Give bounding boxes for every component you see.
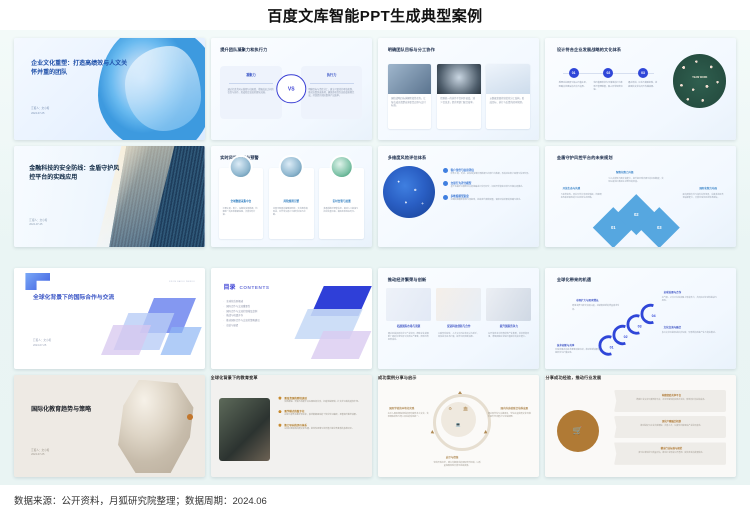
divider [229, 83, 273, 84]
diamond-center-text: 引入大模型与图计算能力，提升复杂欺诈团伙的识别精度，实现从被动拦截到主动预判的转… [608, 178, 665, 184]
slide-risk-assessment-system[interactable]: 多维度风险评估体系 客户身份与信用评估 结合工商、司法、征信等多维外部数据与内部… [378, 146, 539, 248]
world-map-image [436, 288, 481, 321]
slide-cover-fintech[interactable]: 金融科技的安全防线：金盾守护风控平台的实践应用 汇报人：文小希 2024-07-… [14, 146, 205, 248]
map-card-text: 通过区域贸易协定与产业协同，帮助企业获取更广阔的市场空间与优质生产要素，降低综合… [388, 333, 429, 343]
step-node-icon [600, 397, 608, 405]
education-item: 教育资源的跨境流动 优质课程、师资与科研平台在国际间共享，打破地域限制，扩大学习… [278, 396, 364, 404]
vs-left-text: 通过打造共同价值观与归属感，增强成员之间的信任与协作，形成稳定高效的团队氛围。 [228, 89, 275, 96]
diamond-right-text: 面向跨境支付与海外业务场景，完善多地区合规适配能力，支撑全球化风控体系建设。 [683, 194, 725, 200]
bullet-list: 客户身份与信用评估 结合工商、司法、征信等多维外部数据与内部行为数据，形成动态客… [443, 168, 532, 207]
education-item-text: 优质课程、师资与科研平台在国际间共享，打破地域限制，扩大学习者的选择半径。 [284, 401, 364, 404]
shopping-cart-icon: 🛒 [557, 410, 599, 452]
hands-pattern [673, 54, 726, 107]
slide-team-cohesion-vs[interactable]: 提升团队凝聚力和执行力 凝聚力 通过打造共同价值观与归属感，增强成员之间的信任与… [211, 38, 372, 140]
david-statue-image [109, 380, 197, 473]
cycle-node-label: 国内外高校联合培养成果 [501, 406, 529, 410]
slide-case-studies[interactable]: 成功案例分享与启示 ⚙ 🏛 💻 国际学校的本地化实践 在引入国际课程体系的同时融… [378, 375, 539, 477]
divider [310, 83, 354, 84]
education-list: 教育资源的跨境流动 优质课程、师资与科研平台在国际间共享，打破地域限制，扩大学习… [278, 396, 364, 437]
slide-title: 成功案例分享与启示 [378, 375, 417, 380]
step-label: 健全行业标准与规范 [623, 446, 720, 450]
map-card-list: 拓展国际市场与资源 通过区域贸易协定与产业协同，帮助企业获取更广阔的市场空间与优… [386, 288, 531, 362]
diamond-03: 03 [639, 207, 679, 247]
diamond-center-label: 智能化能力升级 [616, 170, 634, 174]
slide-presenter: 汇报人：文小希 2024-07-25 [29, 219, 47, 228]
timeline-number: 03 [638, 68, 648, 78]
map-card: 拓展国际市场与资源 通过区域贸易协定与产业协同，帮助企业获取更广阔的市场空间与优… [386, 288, 431, 362]
watermark-text: FROM BAIDU WENKU [169, 281, 195, 283]
cart-glyph: 🛒 [557, 410, 599, 452]
education-item-text: 从知识考核转向跨文化沟通、批判性思维与协作能力等综合素养的多维评价。 [284, 428, 364, 431]
map-card-text: 在开放竞争中培育优势产业集群，优化营商环境，增强国家在全球价值链中的议价能力。 [488, 333, 529, 339]
timeline-text: 通过培训、仪式与激励机制，持续强化文化认同与传播效果。 [628, 82, 658, 88]
vs-right-label: 执行力 [301, 72, 362, 77]
slide-platform-roadmap[interactable]: 金盾守护风控平台的未来规划 智能化能力升级 引入大模型与图计算能力，提升复杂欺诈… [545, 146, 736, 248]
polygon-decoration [101, 325, 151, 355]
vs-badge: VS [277, 74, 306, 103]
gear-icon: ⚙ [448, 406, 452, 411]
vs-badge-label: VS [278, 75, 305, 102]
deck-row-fintech-security: 金融科技的安全防线：金盾守护风控平台的实践应用 汇报人：文小希 2024-07-… [14, 146, 736, 248]
step-item: 健全行业标准与规范 参与标准制定与质量评估，推动行业形成公开透明、良性竞争的发展… [614, 442, 726, 464]
slide-presenter: 汇报人：文小希 2024-07-25 [31, 449, 49, 458]
slide-title: 推动经济繁荣与创新 [388, 277, 427, 282]
education-item: 能力导向的评价体系 从知识考核转向跨文化沟通、批判性思维与协作能力等综合素养的多… [278, 423, 364, 431]
deck-group-separator [14, 253, 736, 262]
presenter-line: 汇报人：文小希 [33, 339, 51, 344]
slide-team-goals-division[interactable]: 明确团队目标与分工协作 围绕战略目标拆解阶段性任务，让每位成员清楚自身职责边界与… [378, 38, 539, 140]
photo-card: 围绕战略目标拆解阶段性任务，让每位成员清楚自身职责边界与交付标准。 [388, 64, 432, 129]
slides-grid: 企业文化重塑：打造高绩效与人文关怀并重的团队 汇报人：文小希 2024-07-2… [0, 30, 750, 485]
arc-step-text: 在气候、公共卫生等议题上形成合力，共同应对全球性挑战与风险。 [662, 297, 719, 303]
source-note: 数据来源：公开资料，月狐研究院整理；数据周期：2024.06 [0, 493, 267, 507]
bullet-marker-icon [443, 168, 448, 173]
contents-title-cn: 目录 [223, 282, 235, 291]
education-item-label: 能力导向的评价体系 [284, 423, 364, 427]
bullet-text: 基于机器学习模型对交易链路进行实时评分，识别异常资金流转与可疑交易模式。 [451, 186, 525, 189]
step-connector [605, 454, 614, 455]
slide-title: 金盾守护风控平台的未来规划 [557, 155, 613, 160]
slide-title: 国际化教育趋势与策略 [31, 406, 111, 415]
teamwork-caption: TEAM WORK [673, 76, 726, 79]
deck-row-international-education: 国际化教育趋势与策略 汇报人：文小希 2024-07-25 全球化背景下的教育变… [14, 375, 736, 477]
cycle-arrow-icon [458, 391, 462, 394]
vs-right-text: 明确目标与责任分工，建立可量化的考核机制，推动决策快速落地，确保各项任务高质量按… [308, 89, 355, 99]
slide-share-experience[interactable]: 分享成功经验，推动行业发展 🛒 构建经验共享平台 搭建行业交流与案例库平台，沉淀… [545, 375, 736, 477]
map-card-label: 提升国家竞争力 [486, 324, 531, 328]
slide-title: 提升团队凝聚力和执行力 [220, 47, 267, 52]
slide-realtime-risk-monitoring[interactable]: 实时风险监测与预警 全域数据采集中台 汇聚交易、账户、设备等多源数据，构建统一的… [211, 146, 372, 248]
slide-title: 全球化背景下的国际合作与交流 [33, 294, 121, 303]
arc-step-label: 全球治理与合作 [664, 290, 682, 294]
slide-cover-education[interactable]: 国际化教育趋势与策略 汇报人：文小希 2024-07-25 [14, 375, 205, 477]
contents-heading: 目录 CONTENTS [223, 282, 269, 291]
handshake-map-image [486, 288, 531, 321]
icon-card-label: 风险规则引擎 [273, 199, 310, 203]
icon-card-list: 全域数据采集中台 汇聚交易、账户、设备等多源数据，构建统一的风险数据底座，支撑实… [219, 168, 364, 239]
network-dots [383, 166, 435, 218]
slide-presenter: 汇报人：文小希 2024-07-25 [33, 339, 51, 348]
diamond-number: 03 [645, 213, 674, 242]
blue-network-circle-image [383, 166, 435, 218]
photo-card: 以数据复盘持续优化分工结构，形成目标、执行与反馈的闭环管理。 [486, 64, 530, 129]
step-label: 深化产教融合机制 [623, 419, 720, 423]
step-connector [605, 427, 614, 428]
icon-card-text: 多通道推送预警信息，联动人工复核与自动处置流程，缩短风险响应时长。 [323, 208, 360, 214]
bullet-item: 交易行为评分模型 基于机器学习模型对交易链路进行实时评分，识别异常资金流转与可疑… [443, 181, 532, 189]
icon-card-label: 全域数据采集中台 [222, 199, 259, 203]
cycle-diagram: ⚙ 🏛 💻 [433, 394, 485, 446]
date-line: 2024-07-25 [31, 453, 49, 458]
timeline-number: 01 [569, 68, 579, 78]
education-item-label: 教学模式的数字化 [284, 409, 364, 413]
bullet-text: 结合工商、司法、征信等多维外部数据与内部行为数据，形成动态客户画像与信用分层。 [451, 173, 531, 176]
lock-shield-icon [281, 157, 302, 178]
slide-title: 设计符合企业发展战略的文化体系 [557, 47, 621, 52]
bullet-marker-icon [443, 195, 448, 200]
deck-row-corporate-culture: 企业文化重塑：打造高绩效与人文关怀并重的团队 汇报人：文小希 2024-07-2… [14, 38, 736, 140]
page-header: 百度文库智能PPT生成典型案例 [0, 0, 750, 30]
step-node-icon [600, 450, 608, 458]
cloud-data-icon [231, 157, 252, 178]
slide-globalization-opportunities[interactable]: 全球化带来的机遇 0102 0304 [545, 268, 736, 370]
timeline-nodes: 01 梳理企业愿景与核心价值主张，明确文化建设的方向与边界。 02 将价值观转化… [559, 68, 658, 91]
education-item-label: 教育资源的跨境流动 [284, 396, 364, 400]
photo-card-caption: 借助统一的协作平台同步进度，减少信息差，提升跨部门配合效率。 [440, 98, 477, 105]
photo-handshake-image [388, 64, 432, 94]
map-card-text: 以联合实验室、人才交流与标准互认为抓手，加快前沿技术扩散，提升协同创新效率。 [438, 333, 479, 339]
step-connector [605, 401, 614, 402]
arc-step-label: 技术创新与共享 [557, 343, 575, 347]
slide-culture-system-design[interactable]: 设计符合企业发展战略的文化体系 01 梳理企业愿景与核心价值主张，明确文化建设的… [545, 38, 736, 140]
date-line: 2024-07-25 [29, 223, 47, 228]
diamond-left-label: 开放生态与共建 [563, 186, 581, 190]
slide-cover-corporate-culture[interactable]: 企业文化重塑：打造高绩效与人文关怀并重的团队 汇报人：文小希 2024-07-2… [14, 38, 205, 140]
contents-list: 全球化背景概述 国际合作与交流重要性 国际合作与交流的领域及案例 挑战与机遇并存… [223, 300, 259, 328]
cycle-node-label: 启示与借鉴 [446, 455, 459, 459]
slide-title: 全球化背景下的教育变革 [211, 375, 258, 380]
bullet-label: 多维度模型复盘 [451, 194, 523, 198]
classroom-photo-image [219, 398, 271, 461]
bullet-label: 交易行为评分模型 [451, 181, 525, 185]
timeline-node: 03 通过培训、仪式与激励机制，持续强化文化认同与传播效果。 [628, 68, 658, 91]
step-list: 构建经验共享平台 搭建行业交流与案例库平台，沉淀可复制的实践方法论，降低同行的试… [614, 390, 726, 465]
icon-card-text: 内置可配置的策略规则库，支持毫秒级响应，对异常交易行为即时识别与拦截。 [273, 208, 310, 218]
step-node-icon [600, 423, 608, 431]
education-item: 教学模式的数字化 在线与混合式教学常态化，依托数据驱动的个性化学习路径，显著提升… [278, 409, 364, 417]
slide-economic-prosperity[interactable]: 推动经济繁荣与创新 拓展国际市场与资源 通过区域贸易协定与产业协同，帮助企业获取… [378, 268, 539, 370]
teamwork-hands-image: TEAM WORK [673, 54, 726, 107]
timeline-text: 梳理企业愿景与核心价值主张，明确文化建设的方向与边界。 [559, 82, 589, 88]
photo-globe-image [437, 64, 481, 94]
cycle-node-text: 通过双学位与交换项目，学生在真实跨文化环境中提升学术能力与全球视野。 [488, 413, 532, 419]
timeline-text: 将价值观转化为可落地的行为准则与管理制度，嵌入日常经营流程。 [593, 82, 623, 91]
svg-text:02: 02 [624, 335, 628, 339]
slide-table-of-contents[interactable]: 目录 CONTENTS 全球化背景概述 国际合作与交流重要性 国际合作与交流的领… [211, 268, 372, 370]
arc-step-text: 多元文化互鉴促进社会包容，孕育新的创意产业与商业模式。 [662, 332, 719, 335]
education-item-text: 在线与混合式教学常态化，依托数据驱动的个性化学习路径，显著提升教学效果。 [284, 414, 364, 417]
star-marker-icon [278, 410, 281, 413]
contents-item[interactable]: 总结与展望 [223, 324, 259, 329]
timeline-node: 01 梳理企业愿景与核心价值主张，明确文化建设的方向与边界。 [559, 68, 589, 91]
slide-cover-globalization[interactable]: FROM BAIDU WENKU 全球化背景下的国际合作与交流 汇报人：文小希 … [14, 268, 205, 370]
arc-step-text: 全球范围内的技术要素加速流动，推动创新成果快速转化与扩散应用。 [555, 349, 601, 355]
icon-card: 实时告警与处置 多通道推送预警信息，联动人工复核与自动处置流程，缩短风险响应时长… [319, 168, 364, 239]
date-line: 2024-07-25 [31, 112, 49, 117]
slide-title: 分享成功经验，推动行业发展 [545, 375, 601, 380]
icon-card-text: 汇聚交易、账户、设备等多源数据，构建统一的风险数据底座，支撑实时计算。 [223, 208, 260, 218]
cycle-node-text: 在引入国际课程体系的同时融合本土文化，实现课程结构与育人目标的有机统一。 [388, 413, 430, 419]
slide-presenter: 汇报人：文小希 2024-07-25 [31, 107, 49, 116]
deck-row-globalization: FROM BAIDU WENKU 全球化背景下的国际合作与交流 汇报人：文小希 … [14, 268, 736, 370]
diamond-left-text: 与监管机构、同业伙伴共享风险情报，构建跨机构联防联控的行业风控生态网络。 [561, 194, 603, 200]
timeline: 01 梳理企业愿景与核心价值主张，明确文化建设的方向与边界。 02 将价值观转化… [559, 68, 658, 91]
corner-shape-decoration [25, 273, 50, 290]
vs-right-panel: 执行力 明确目标与责任分工，建立可量化的考核机制，推动决策快速落地，确保各项任务… [301, 66, 362, 119]
world-map-image [386, 288, 431, 321]
slide-education-transformation[interactable]: 全球化背景下的教育变革 教育资源的跨境流动 优质课程、师资与科研平台在国际间共享… [211, 375, 372, 477]
star-marker-icon [278, 396, 281, 399]
photo-card-caption: 以数据复盘持续优化分工结构，形成目标、执行与反馈的闭环管理。 [490, 98, 527, 105]
arc-step-label: 市场扩大与需求增长 [576, 298, 599, 302]
cycle-node-label: 国际学校的本地化实践 [389, 406, 414, 410]
timeline-node: 02 将价值观转化为可落地的行为准则与管理制度，嵌入日常经营流程。 [593, 68, 623, 91]
slide-title: 明确团队目标与分工协作 [388, 47, 435, 52]
arc-step-text: 跨境消费与数字贸易兴起，持续释放新的增量需求空间。 [572, 305, 622, 311]
star-marker-icon [278, 423, 281, 426]
map-card: 提升国家竞争力 在开放竞争中培育优势产业集群，优化营商环境，增强国家在全球价值链… [486, 288, 531, 362]
photo-bar-chart-image [486, 64, 530, 94]
slide-title: 多维度风险评估体系 [388, 155, 427, 160]
step-item: 深化产教融合机制 推动院校与企业共建课程、共育人才，让教学内容紧贴产业前沿需求。 [614, 416, 726, 438]
map-card-label: 促进科技创新与合作 [436, 324, 481, 328]
page-footer: 数据来源：公开资料，月狐研究院整理；数据周期：2024.06 [0, 485, 750, 515]
icon-card-label: 实时告警与处置 [323, 199, 360, 203]
cycle-node-text: 坚持开放办学，建立长期稳定的国际合作机制，以质量保障体系支撑可持续发展。 [433, 462, 481, 468]
svg-text:04: 04 [652, 314, 656, 318]
step-text: 搭建行业交流与案例库平台，沉淀可复制的实践方法论，降低同行的试错成本。 [623, 399, 720, 402]
bullet-item: 多维度模型复盘 定期回测模型表现与误报率，持续迭代参数配置，保障评估结果的准确与… [443, 194, 532, 202]
slide-title: 金融科技的安全防线：金盾守护风控平台的实践应用 [29, 165, 124, 184]
map-card: 促进科技创新与合作 以联合实验室、人才交流与标准互认为抓手，加快前沿技术扩散，提… [436, 288, 481, 362]
contents-title-en: CONTENTS [239, 285, 269, 290]
screenshot-root: 百度文库智能PPT生成典型案例 企业文化重塑：打造高绩效与人文关怀并重的团队 汇… [0, 0, 750, 515]
diamond-right-label: 国际化能力布局 [699, 186, 717, 190]
step-label: 构建经验共享平台 [623, 393, 720, 397]
svg-text:01: 01 [610, 345, 614, 349]
date-line: 2024-07-25 [33, 344, 51, 349]
check-shield-icon [331, 157, 352, 178]
bullet-label: 客户身份与信用评估 [451, 168, 531, 172]
bullet-item: 客户身份与信用评估 结合工商、司法、征信等多维外部数据与内部行为数据，形成动态客… [443, 168, 532, 176]
bullet-text: 定期回测模型表现与误报率，持续迭代参数配置，保障评估结果的准确与稳定。 [451, 199, 523, 202]
slide-title: 企业文化重塑：打造高绩效与人文关怀并重的团队 [31, 60, 130, 77]
bank-icon: 🏛 [463, 406, 468, 411]
icon-card: 风险规则引擎 内置可配置的策略规则库，支持毫秒级响应，对异常交易行为即时识别与拦… [269, 168, 314, 239]
photo-card-list: 围绕战略目标拆解阶段性任务，让每位成员清楚自身职责边界与交付标准。 借助统一的协… [388, 64, 530, 129]
step-text: 参与标准制定与质量评估，推动行业形成公开透明、良性竞争的发展秩序。 [623, 452, 720, 455]
map-card-label: 拓展国际市场与资源 [386, 324, 431, 328]
step-text: 推动院校与企业共建课程、共育人才，让教学内容紧贴产业前沿需求。 [623, 425, 720, 428]
photo-card-caption: 围绕战略目标拆解阶段性任务，让每位成员清楚自身职责边界与交付标准。 [391, 98, 428, 108]
timeline-number: 02 [603, 68, 613, 78]
arc-step-label: 文化交流与融合 [664, 325, 682, 329]
laptop-icon: 💻 [456, 422, 461, 427]
orange-dot-decoration [187, 414, 193, 420]
bullet-marker-icon [443, 181, 448, 186]
icon-card: 全域数据采集中台 汇聚交易、账户、设备等多源数据，构建统一的风险数据底座，支撑实… [219, 168, 264, 239]
vs-left-label: 凝聚力 [220, 72, 281, 77]
vs-left-panel: 凝聚力 通过打造共同价值观与归属感，增强成员之间的信任与协作，形成稳定高效的团队… [220, 66, 281, 119]
page-title: 百度文库智能PPT生成典型案例 [267, 5, 482, 26]
step-item: 构建经验共享平台 搭建行业交流与案例库平台，沉淀可复制的实践方法论，降低同行的试… [614, 390, 726, 412]
photo-card: 借助统一的协作平台同步进度，减少信息差，提升跨部门配合效率。 [437, 64, 481, 129]
svg-text:03: 03 [638, 324, 642, 328]
